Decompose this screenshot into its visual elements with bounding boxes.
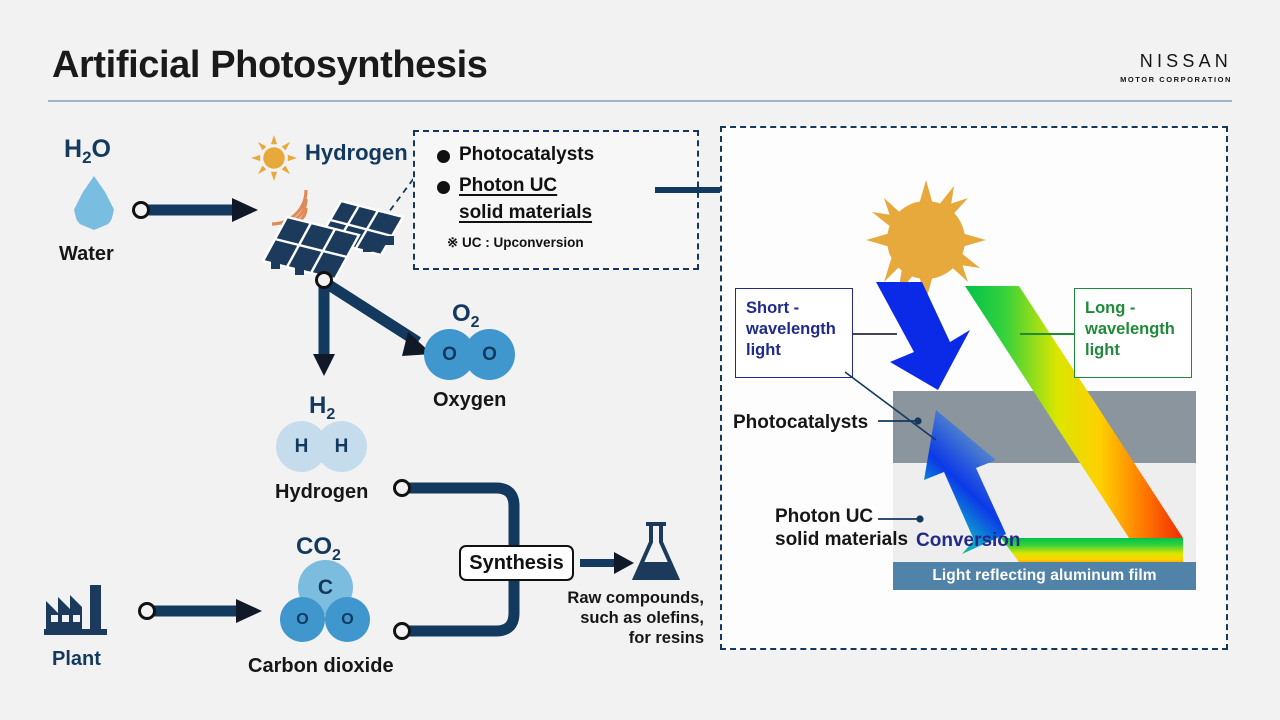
- water-drop-icon: [74, 176, 114, 230]
- oxygen-label: Oxygen: [433, 389, 506, 412]
- co2-oxygen-atom-1: O: [280, 597, 325, 642]
- callout-item-2-line1: Photon UC: [459, 176, 592, 197]
- photocatalysts-label: Photocatalysts: [733, 412, 868, 434]
- hydrogen-atom-2: H: [316, 421, 367, 472]
- nissan-logo: NISSAN MOTOR CORPORATION: [1120, 52, 1232, 84]
- callout-item-photocatalysts: Photocatalysts: [437, 145, 594, 166]
- brand-subtitle: MOTOR CORPORATION: [1120, 75, 1232, 84]
- co2-oxygen-atom-2: O: [325, 597, 370, 642]
- arrow-synthesis-to-flask: [580, 549, 636, 579]
- callout-note: ※ UC : Upconversion: [447, 235, 584, 251]
- aluminum-film-label: Light reflecting aluminum film: [932, 567, 1156, 585]
- bullet-icon: [437, 150, 450, 163]
- factory-icon: [44, 583, 126, 637]
- carbon-dioxide-label: Carbon dioxide: [248, 655, 394, 678]
- flask-icon: [630, 520, 682, 584]
- callout-item-1-label: Photocatalysts: [459, 145, 594, 166]
- long-wavelength-leader-line: [1020, 333, 1074, 335]
- short-wavelength-leader-line: [853, 333, 897, 335]
- arrow-water-to-panel: [128, 190, 263, 230]
- hydrogen-top-label: Hydrogen: [305, 140, 408, 166]
- arrow-plant-to-co2: [136, 592, 266, 630]
- photon-uc-materials-label: Photon UCsolid materials: [775, 505, 873, 551]
- water-formula: H2O: [64, 135, 111, 168]
- synthesis-button[interactable]: Synthesis: [459, 545, 574, 581]
- oxygen-atom-2: O: [464, 329, 515, 380]
- header-divider: [48, 100, 1232, 102]
- brand-name: NISSAN: [1120, 52, 1232, 70]
- aluminum-film-bar: Light reflecting aluminum film: [893, 562, 1196, 590]
- raw-compounds-label: Raw compounds,such as olefins,for resins: [556, 588, 704, 648]
- short-wavelength-box: Short -wavelengthlight: [735, 288, 853, 378]
- bullet-icon: [437, 181, 450, 194]
- callout-item-2-line2: solid materials: [459, 203, 592, 224]
- callout-item-photon-uc: Photon UC solid materials: [437, 176, 592, 223]
- hydrogen-label: Hydrogen: [275, 481, 368, 504]
- plant-label: Plant: [52, 648, 101, 671]
- long-wavelength-box: Long -wavelengthlight: [1074, 288, 1192, 378]
- water-label: Water: [59, 243, 114, 266]
- page-title: Artificial Photosynthesis: [52, 44, 488, 87]
- slide-canvas: Artificial Photosynthesis NISSAN MOTOR C…: [0, 0, 1280, 720]
- hydrogen-formula: H2: [309, 392, 335, 424]
- conversion-label: Conversion: [916, 530, 1021, 552]
- oxygen-formula: O2: [452, 300, 480, 332]
